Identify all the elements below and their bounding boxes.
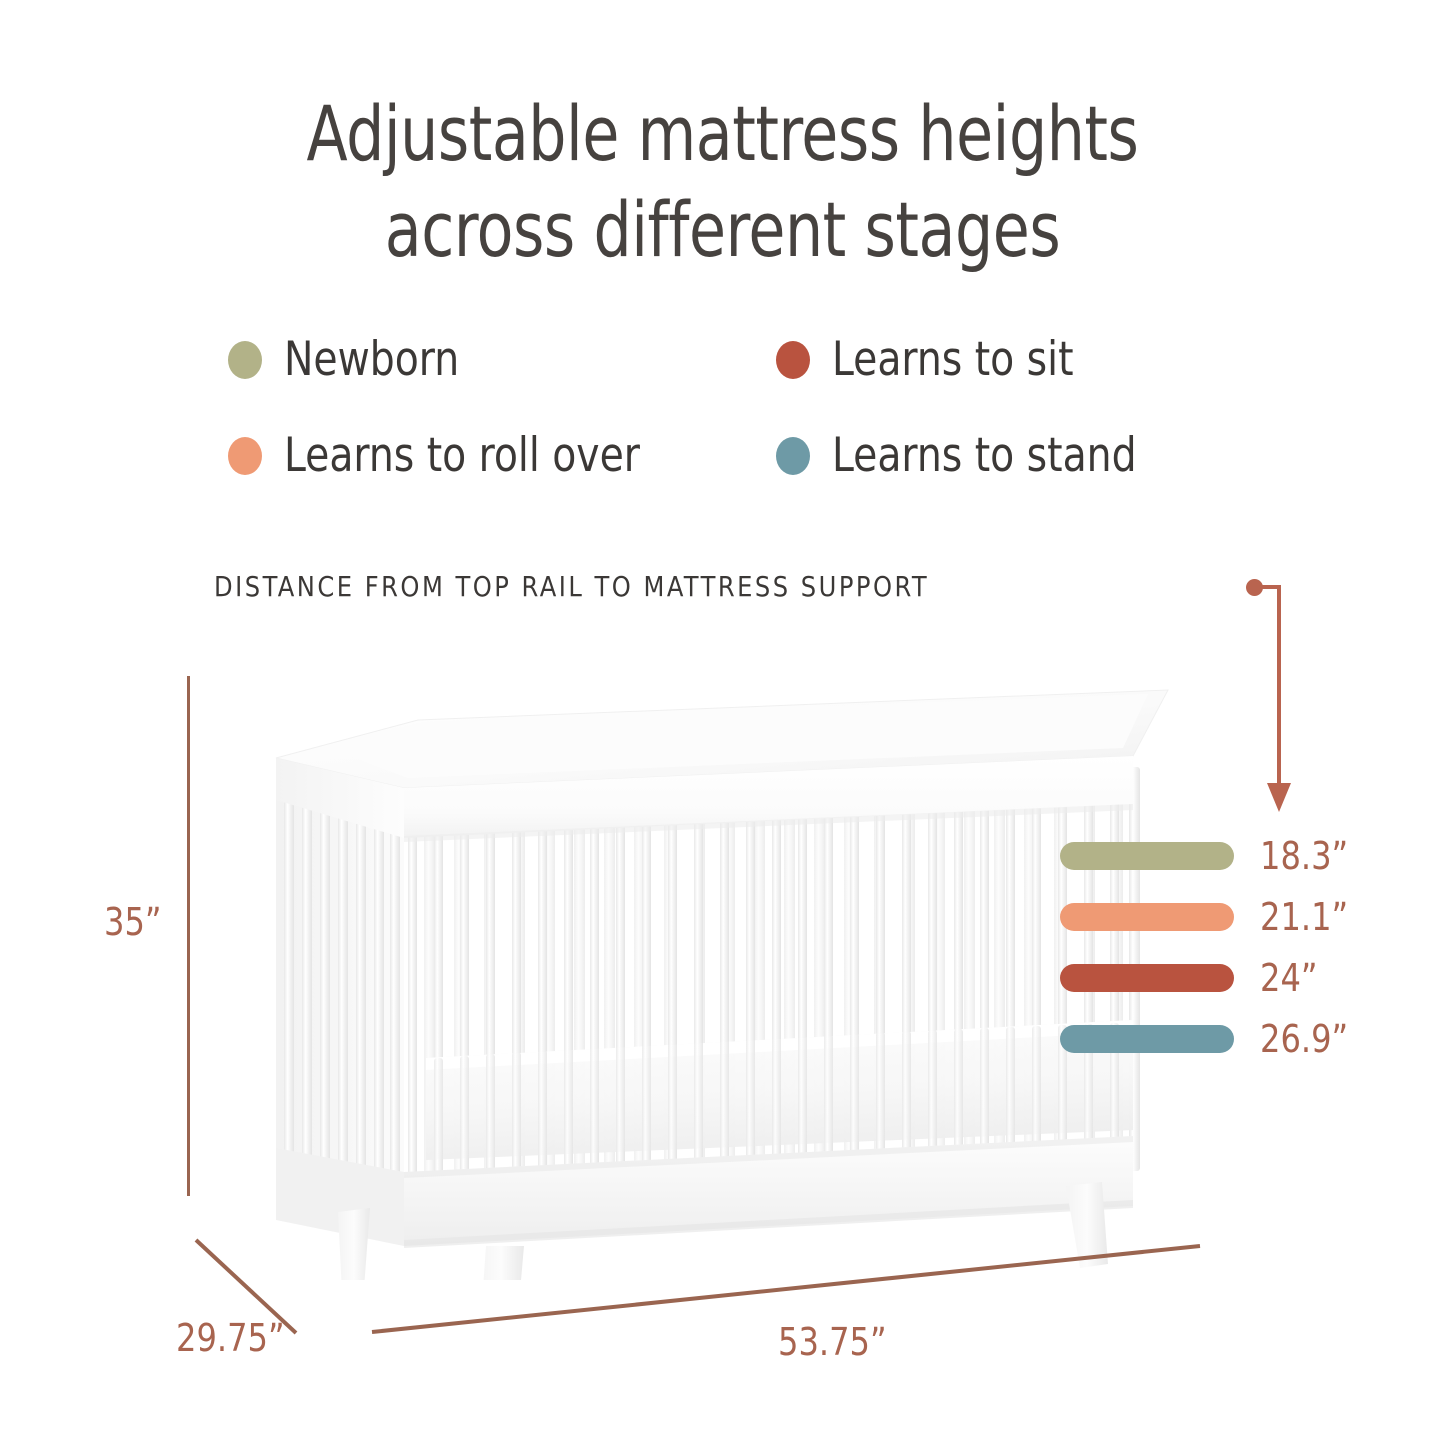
legend-label-learns-to-stand: Learns to stand bbox=[832, 430, 1137, 482]
infographic-page: Adjustable mattress heights across diffe… bbox=[0, 0, 1445, 1445]
stage-legend: Newborn Learns to sit Learns to roll ove… bbox=[228, 312, 1238, 504]
measure-label-learns-to-roll-over: 21.1” bbox=[1260, 898, 1348, 936]
crib-leg-back-right bbox=[1066, 1182, 1108, 1268]
measure-row-learns-to-roll-over: 21.1” bbox=[1060, 902, 1354, 932]
dimension-label-width: 53.75” bbox=[778, 1322, 887, 1362]
crib-leg-back-left bbox=[338, 1208, 370, 1280]
measure-label-learns-to-sit: 24” bbox=[1260, 959, 1318, 997]
measure-label-newborn: 18.3” bbox=[1260, 837, 1348, 875]
legend-label-learns-to-sit: Learns to sit bbox=[832, 334, 1073, 386]
legend-dot-icon bbox=[776, 341, 810, 379]
legend-dot-icon bbox=[776, 437, 810, 475]
measure-row-newborn: 18.3” bbox=[1060, 841, 1354, 871]
caption-arrow-icon bbox=[1254, 580, 1294, 820]
measure-row-learns-to-stand: 26.9” bbox=[1060, 1024, 1354, 1054]
measure-bar bbox=[1060, 964, 1234, 992]
measure-row-learns-to-sit: 24” bbox=[1060, 963, 1321, 993]
dimension-line-height bbox=[187, 676, 190, 1196]
distance-caption: DISTANCE FROM TOP RAIL TO MATTRESS SUPPO… bbox=[214, 570, 929, 603]
crib-svg bbox=[228, 660, 1188, 1280]
dimension-label-height: 35” bbox=[104, 902, 162, 942]
crib-leg-front-left bbox=[478, 1246, 524, 1280]
legend-item-learns-to-stand: Learns to stand bbox=[776, 430, 1236, 482]
legend-item-learns-to-roll-over: Learns to roll over bbox=[228, 430, 776, 482]
measure-bar bbox=[1060, 903, 1234, 931]
legend-label-learns-to-roll-over: Learns to roll over bbox=[284, 430, 640, 482]
page-title: Adjustable mattress heights across diffe… bbox=[0, 86, 1445, 278]
title-line-1: Adjustable mattress heights bbox=[87, 86, 1359, 182]
measure-bar bbox=[1060, 842, 1234, 870]
measure-bar bbox=[1060, 1025, 1234, 1053]
legend-item-learns-to-sit: Learns to sit bbox=[776, 334, 1236, 386]
legend-dot-icon bbox=[228, 341, 262, 379]
dimension-label-depth: 29.75” bbox=[176, 1318, 285, 1358]
crib-illustration bbox=[228, 660, 1188, 1280]
legend-dot-icon bbox=[228, 437, 262, 475]
legend-label-newborn: Newborn bbox=[284, 334, 459, 386]
title-line-2: across different stages bbox=[87, 182, 1359, 278]
measure-label-learns-to-stand: 26.9” bbox=[1260, 1020, 1348, 1058]
legend-item-newborn: Newborn bbox=[228, 334, 776, 386]
